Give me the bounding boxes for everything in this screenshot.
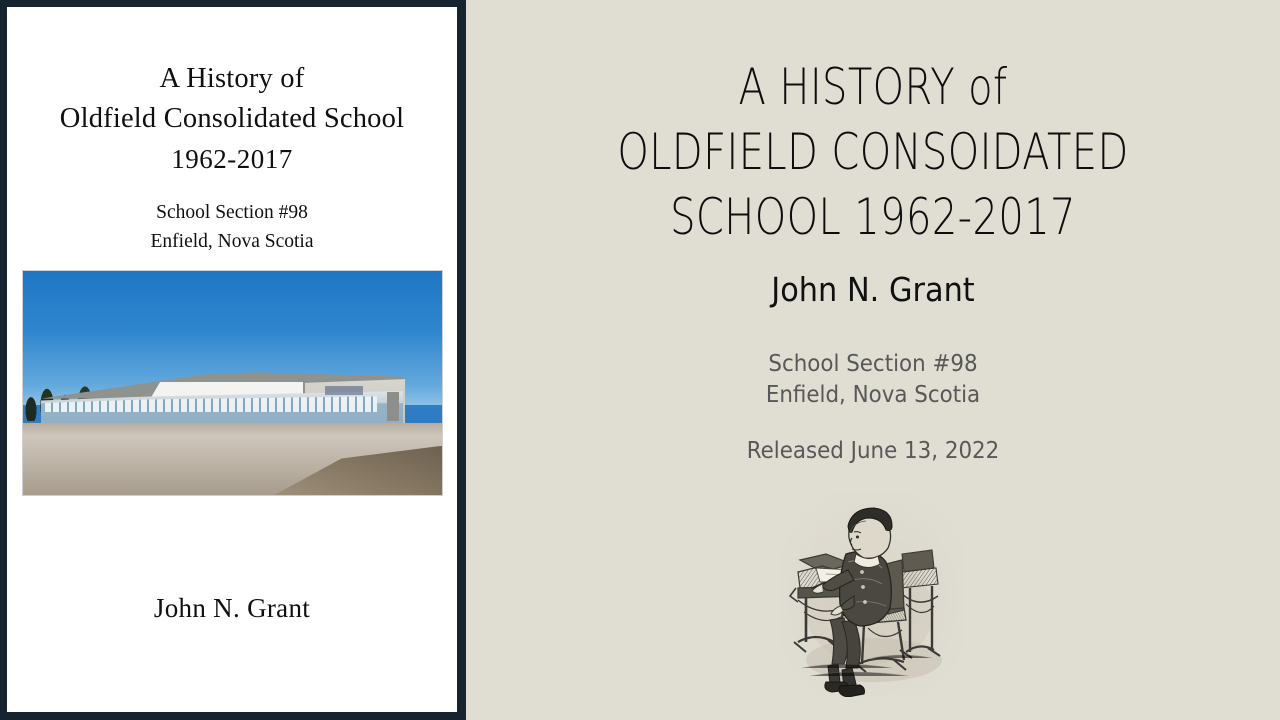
book-cover-title-line-3: 1962-2017 (7, 139, 457, 179)
slide-release-date: Released June 13, 2022 (494, 438, 1251, 464)
book-cover-title-line-2: Oldfield Consolidated School (7, 99, 457, 139)
book-cover-image[interactable]: A History of Oldfield Consolidated Schoo… (0, 0, 466, 720)
slide-author: John N. Grant (499, 270, 1248, 309)
book-cover-title-line-1: A History of (7, 59, 457, 99)
book-cover-subtitle-line-1: School Section #98 (7, 198, 457, 227)
book-cover-author: John N. Grant (7, 593, 457, 624)
slide-title-line-1: A HISTORY of (547, 55, 1198, 120)
book-cover-subtitle: School Section #98 Enfield, Nova Scotia (7, 198, 457, 256)
photo-school-door (387, 392, 399, 421)
slide-subtitle-line-2: Enfield, Nova Scotia (494, 380, 1251, 411)
photo-school-sign (325, 386, 363, 395)
school-building-photo (22, 270, 443, 496)
presentation-slide: A History of Oldfield Consolidated Schoo… (0, 0, 1280, 720)
book-cover-page: A History of Oldfield Consolidated Schoo… (7, 7, 457, 712)
slide-title-line-3: SCHOOL 1962-2017 (547, 185, 1198, 250)
slide-title: A HISTORY of OLDFIELD CONSOIDATED SCHOOL… (547, 55, 1198, 250)
slide-subtitle-line-1: School Section #98 (494, 349, 1251, 380)
book-cover-subtitle-line-2: Enfield, Nova Scotia (7, 227, 457, 256)
book-cover-title: A History of Oldfield Consolidated Schoo… (7, 59, 457, 179)
slide-subtitle: School Section #98 Enfield, Nova Scotia (494, 349, 1251, 411)
student-at-desk-icon (782, 492, 964, 697)
slide-title-line-2: OLDFIELD CONSOIDATED (547, 120, 1198, 185)
slide-content-pane: A HISTORY of OLDFIELD CONSOIDATED SCHOOL… (466, 0, 1280, 720)
